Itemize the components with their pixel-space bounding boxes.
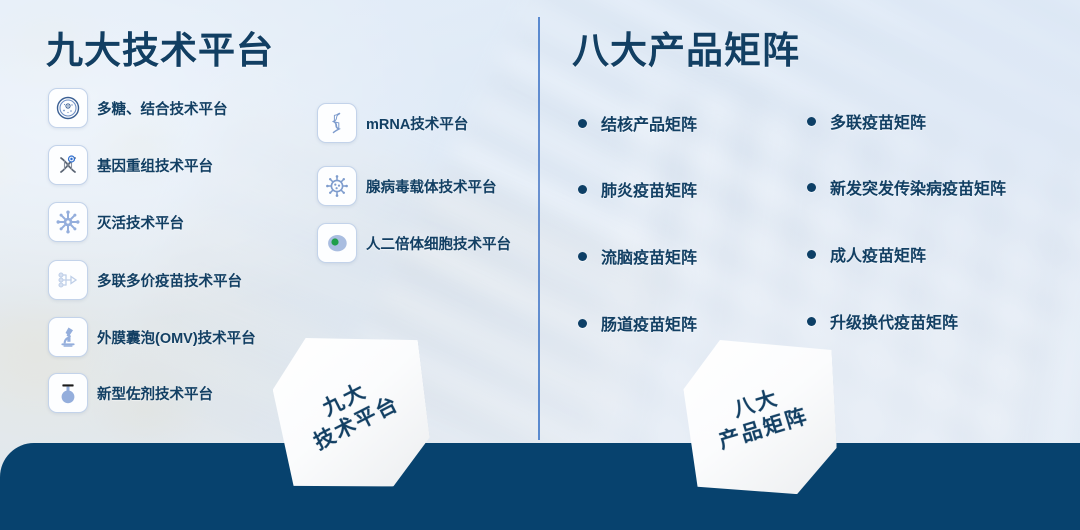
hexagon-shape: 九大 技术平台 (267, 324, 435, 499)
tech-item-label: 基因重组技术平台 (97, 155, 213, 176)
eight-matrices-badge[interactable]: 八大 产品矩阵 (685, 338, 835, 496)
tech-item-omv[interactable]: 外膜囊泡(OMV)技术平台 (48, 317, 256, 357)
cell-nucleus-icon (317, 223, 357, 263)
slide-canvas: 九大技术平台 多糖、结合技术平台 (0, 0, 1080, 530)
bullet-icon (807, 250, 816, 259)
product-item-enteric[interactable]: 肠道疫苗矩阵 (578, 311, 697, 335)
tech-item-label: 灭活技术平台 (97, 212, 184, 233)
right-panel-title: 八大产品矩阵 (572, 20, 800, 74)
product-item-label: 肺炎疫苗矩阵 (601, 177, 697, 201)
bullet-icon (578, 185, 587, 194)
product-item-tuberculosis[interactable]: 结核产品矩阵 (578, 111, 697, 135)
hexagon-shape: 八大 产品矩阵 (681, 334, 839, 500)
nine-platforms-badge[interactable]: 九大 技术平台 (276, 333, 426, 491)
flask-icon (48, 373, 88, 413)
virus-snowflake-icon (48, 202, 88, 242)
product-item-label: 肠道疫苗矩阵 (601, 311, 697, 335)
molecule-branch-icon (48, 260, 88, 300)
tech-item-recombinant-gene[interactable]: 基因重组技术平台 (48, 145, 213, 185)
tech-item-label: 人二倍体细胞技术平台 (366, 233, 511, 254)
bottom-navy-band (0, 443, 1080, 530)
product-item-upgraded[interactable]: 升级换代疫苗矩阵 (807, 309, 958, 333)
product-item-combination[interactable]: 多联疫苗矩阵 (807, 109, 926, 133)
product-item-meningitis[interactable]: 流脑疫苗矩阵 (578, 244, 697, 268)
panel-divider (538, 17, 540, 440)
bullet-icon (578, 319, 587, 328)
bullet-icon (807, 317, 816, 326)
bullet-icon (807, 117, 816, 126)
adenovirus-icon (317, 166, 357, 206)
tech-item-novel-adjuvant[interactable]: 新型佐剂技术平台 (48, 373, 213, 413)
tech-item-mrna[interactable]: mRNA技术平台 (317, 103, 468, 143)
badge-text: 九大 技术平台 (298, 368, 404, 457)
tech-item-inactivated[interactable]: 灭活技术平台 (48, 202, 184, 242)
product-item-label: 新发突发传染病疫苗矩阵 (830, 175, 1006, 199)
badge-text: 八大 产品矩阵 (708, 378, 811, 455)
bullet-icon (807, 183, 816, 192)
bullet-icon (578, 252, 587, 261)
tech-item-label: 外膜囊泡(OMV)技术平台 (97, 327, 256, 348)
tech-item-human-diploid-cell[interactable]: 人二倍体细胞技术平台 (317, 223, 511, 263)
product-item-adult[interactable]: 成人疫苗矩阵 (807, 242, 926, 266)
tech-item-label: mRNA技术平台 (366, 113, 468, 134)
left-panel-title: 九大技术平台 (46, 20, 274, 74)
tech-item-polysaccharide[interactable]: 多糖、结合技术平台 (48, 88, 228, 128)
product-item-label: 成人疫苗矩阵 (830, 242, 926, 266)
product-item-label: 结核产品矩阵 (601, 111, 697, 135)
bullet-icon (578, 119, 587, 128)
tech-item-label: 新型佐剂技术平台 (97, 383, 213, 404)
tech-item-label: 腺病毒载体技术平台 (366, 176, 497, 197)
mrna-strand-icon (317, 103, 357, 143)
product-item-label: 多联疫苗矩阵 (830, 109, 926, 133)
tech-item-label: 多糖、结合技术平台 (97, 98, 228, 119)
product-item-label: 流脑疫苗矩阵 (601, 244, 697, 268)
product-item-emerging-infectious[interactable]: 新发突发传染病疫苗矩阵 (807, 175, 1006, 199)
product-item-pneumonia[interactable]: 肺炎疫苗矩阵 (578, 177, 697, 201)
tech-item-multivalent-vaccine[interactable]: 多联多价疫苗技术平台 (48, 260, 242, 300)
petri-dish-icon (48, 88, 88, 128)
product-item-label: 升级换代疫苗矩阵 (830, 309, 958, 333)
tech-item-adenovirus-vector[interactable]: 腺病毒载体技术平台 (317, 166, 497, 206)
tech-item-label: 多联多价疫苗技术平台 (97, 270, 242, 291)
microscope-icon (48, 317, 88, 357)
dna-helix-icon (48, 145, 88, 185)
